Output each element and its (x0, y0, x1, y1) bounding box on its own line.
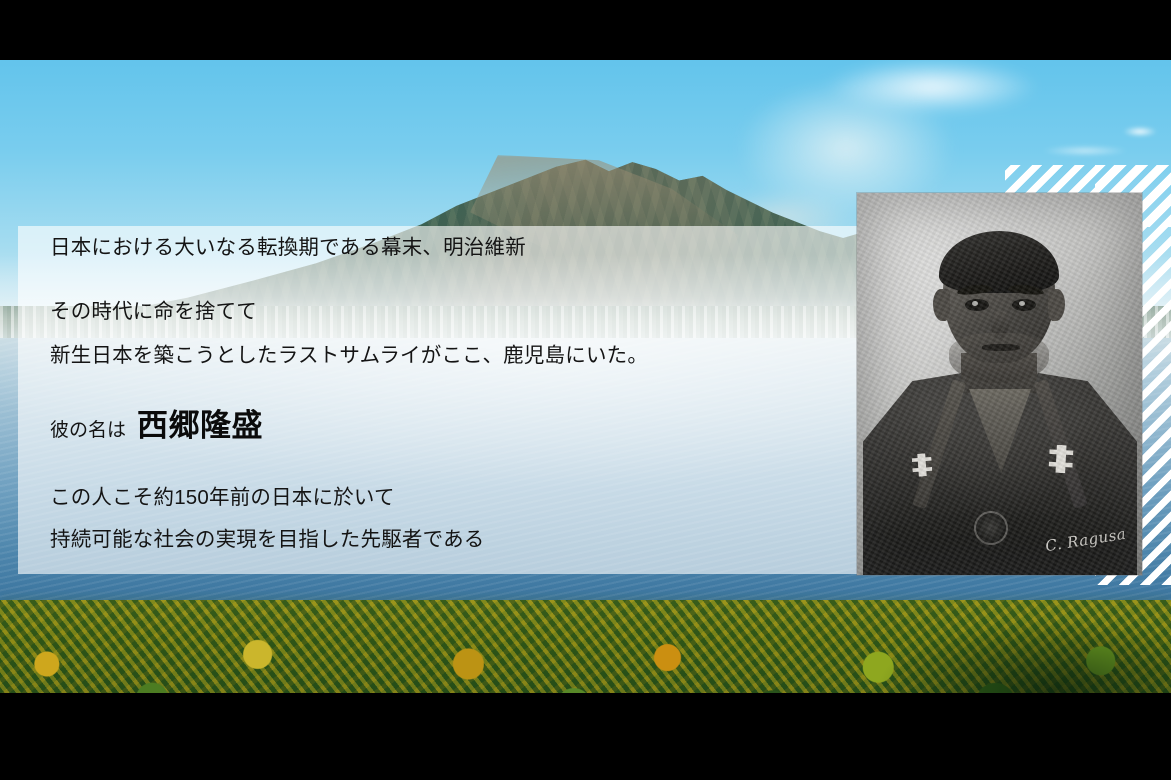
narrative-line-4: この人こそ約150年前の日本に於いて (50, 488, 395, 509)
narrative-line-1: 日本における大いなる転換期である幕末、明治維新 (50, 238, 526, 259)
presentation-slide: 日本における大いなる転換期である幕末、明治維新 その時代に命を捨てて 新生日本を… (0, 0, 1171, 780)
subject-name-row: 彼の名は 西郷隆盛 (50, 410, 263, 441)
subject-name: 西郷隆盛 (137, 410, 263, 441)
letterbox-bar-top (0, 0, 1171, 60)
portrait-ear-left (933, 289, 950, 321)
portrait-photo-saigo-takamori: C. Ragusa (857, 193, 1142, 575)
portrait-chin (949, 333, 1049, 383)
narrative-line-2: その時代に命を捨てて (50, 302, 257, 323)
cloud (1030, 140, 1140, 158)
portrait-eye-highlight-right (1019, 301, 1025, 306)
foliage-shadow (880, 620, 1171, 693)
name-prefix-label: 彼の名は (50, 421, 126, 440)
portrait-eye-highlight-left (972, 301, 978, 306)
portrait-mouth (982, 344, 1020, 351)
narrative-line-5: 持続可能な社会の実現を目指した先駆者である (50, 530, 485, 551)
text-overlay-panel (18, 226, 858, 574)
cloud (1118, 122, 1162, 138)
narrative-line-3: 新生日本を築こうとしたラストサムライがここ、鹿児島にいた。 (50, 346, 648, 367)
letterbox-bar-bottom (0, 693, 1171, 780)
